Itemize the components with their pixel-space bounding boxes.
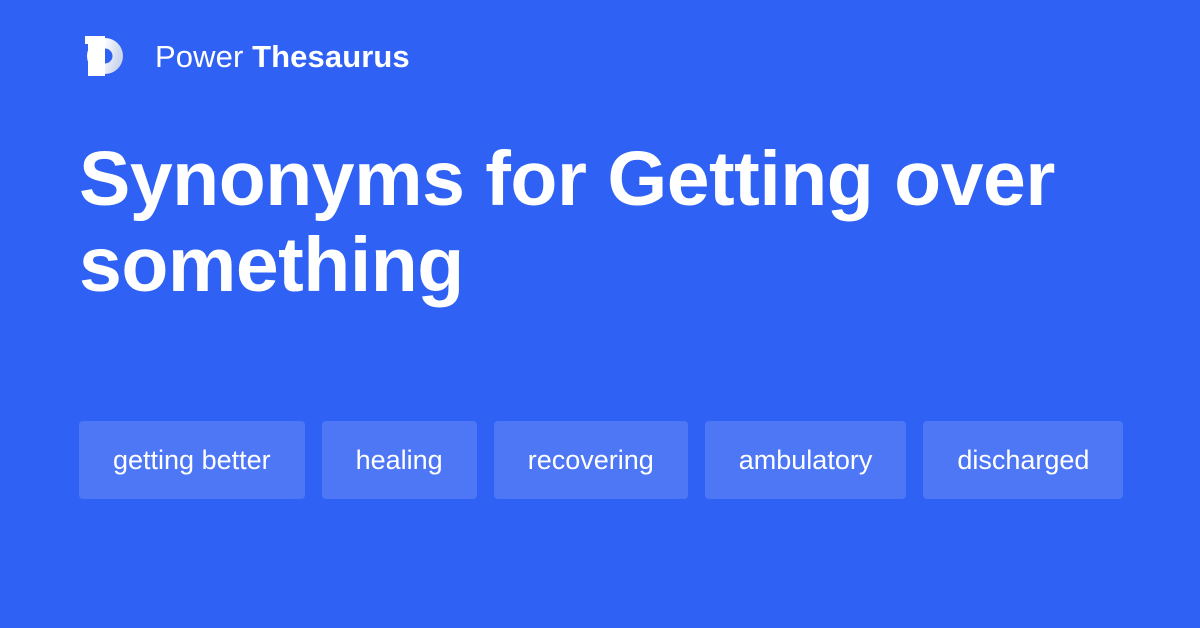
power-thesaurus-b-logo-icon — [79, 30, 131, 82]
brand-name-light: Power — [155, 39, 243, 74]
brand-name-bold: Thesaurus — [252, 39, 410, 74]
synonym-chip-list: getting betterhealingrecoveringambulator… — [79, 421, 1139, 499]
synonym-chip[interactable]: healing — [322, 421, 477, 499]
brand-header[interactable]: Power Thesaurus — [79, 28, 410, 84]
share-card: Power Thesaurus Synonyms for Getting ove… — [0, 0, 1200, 628]
synonym-chip[interactable]: getting better — [79, 421, 305, 499]
page-title: Synonyms for Getting over something — [79, 136, 1139, 308]
brand-wordmark: Power Thesaurus — [155, 41, 410, 72]
synonym-chip[interactable]: recovering — [494, 421, 688, 499]
synonym-chip[interactable]: discharged — [923, 421, 1123, 499]
synonym-chip[interactable]: ambulatory — [705, 421, 907, 499]
